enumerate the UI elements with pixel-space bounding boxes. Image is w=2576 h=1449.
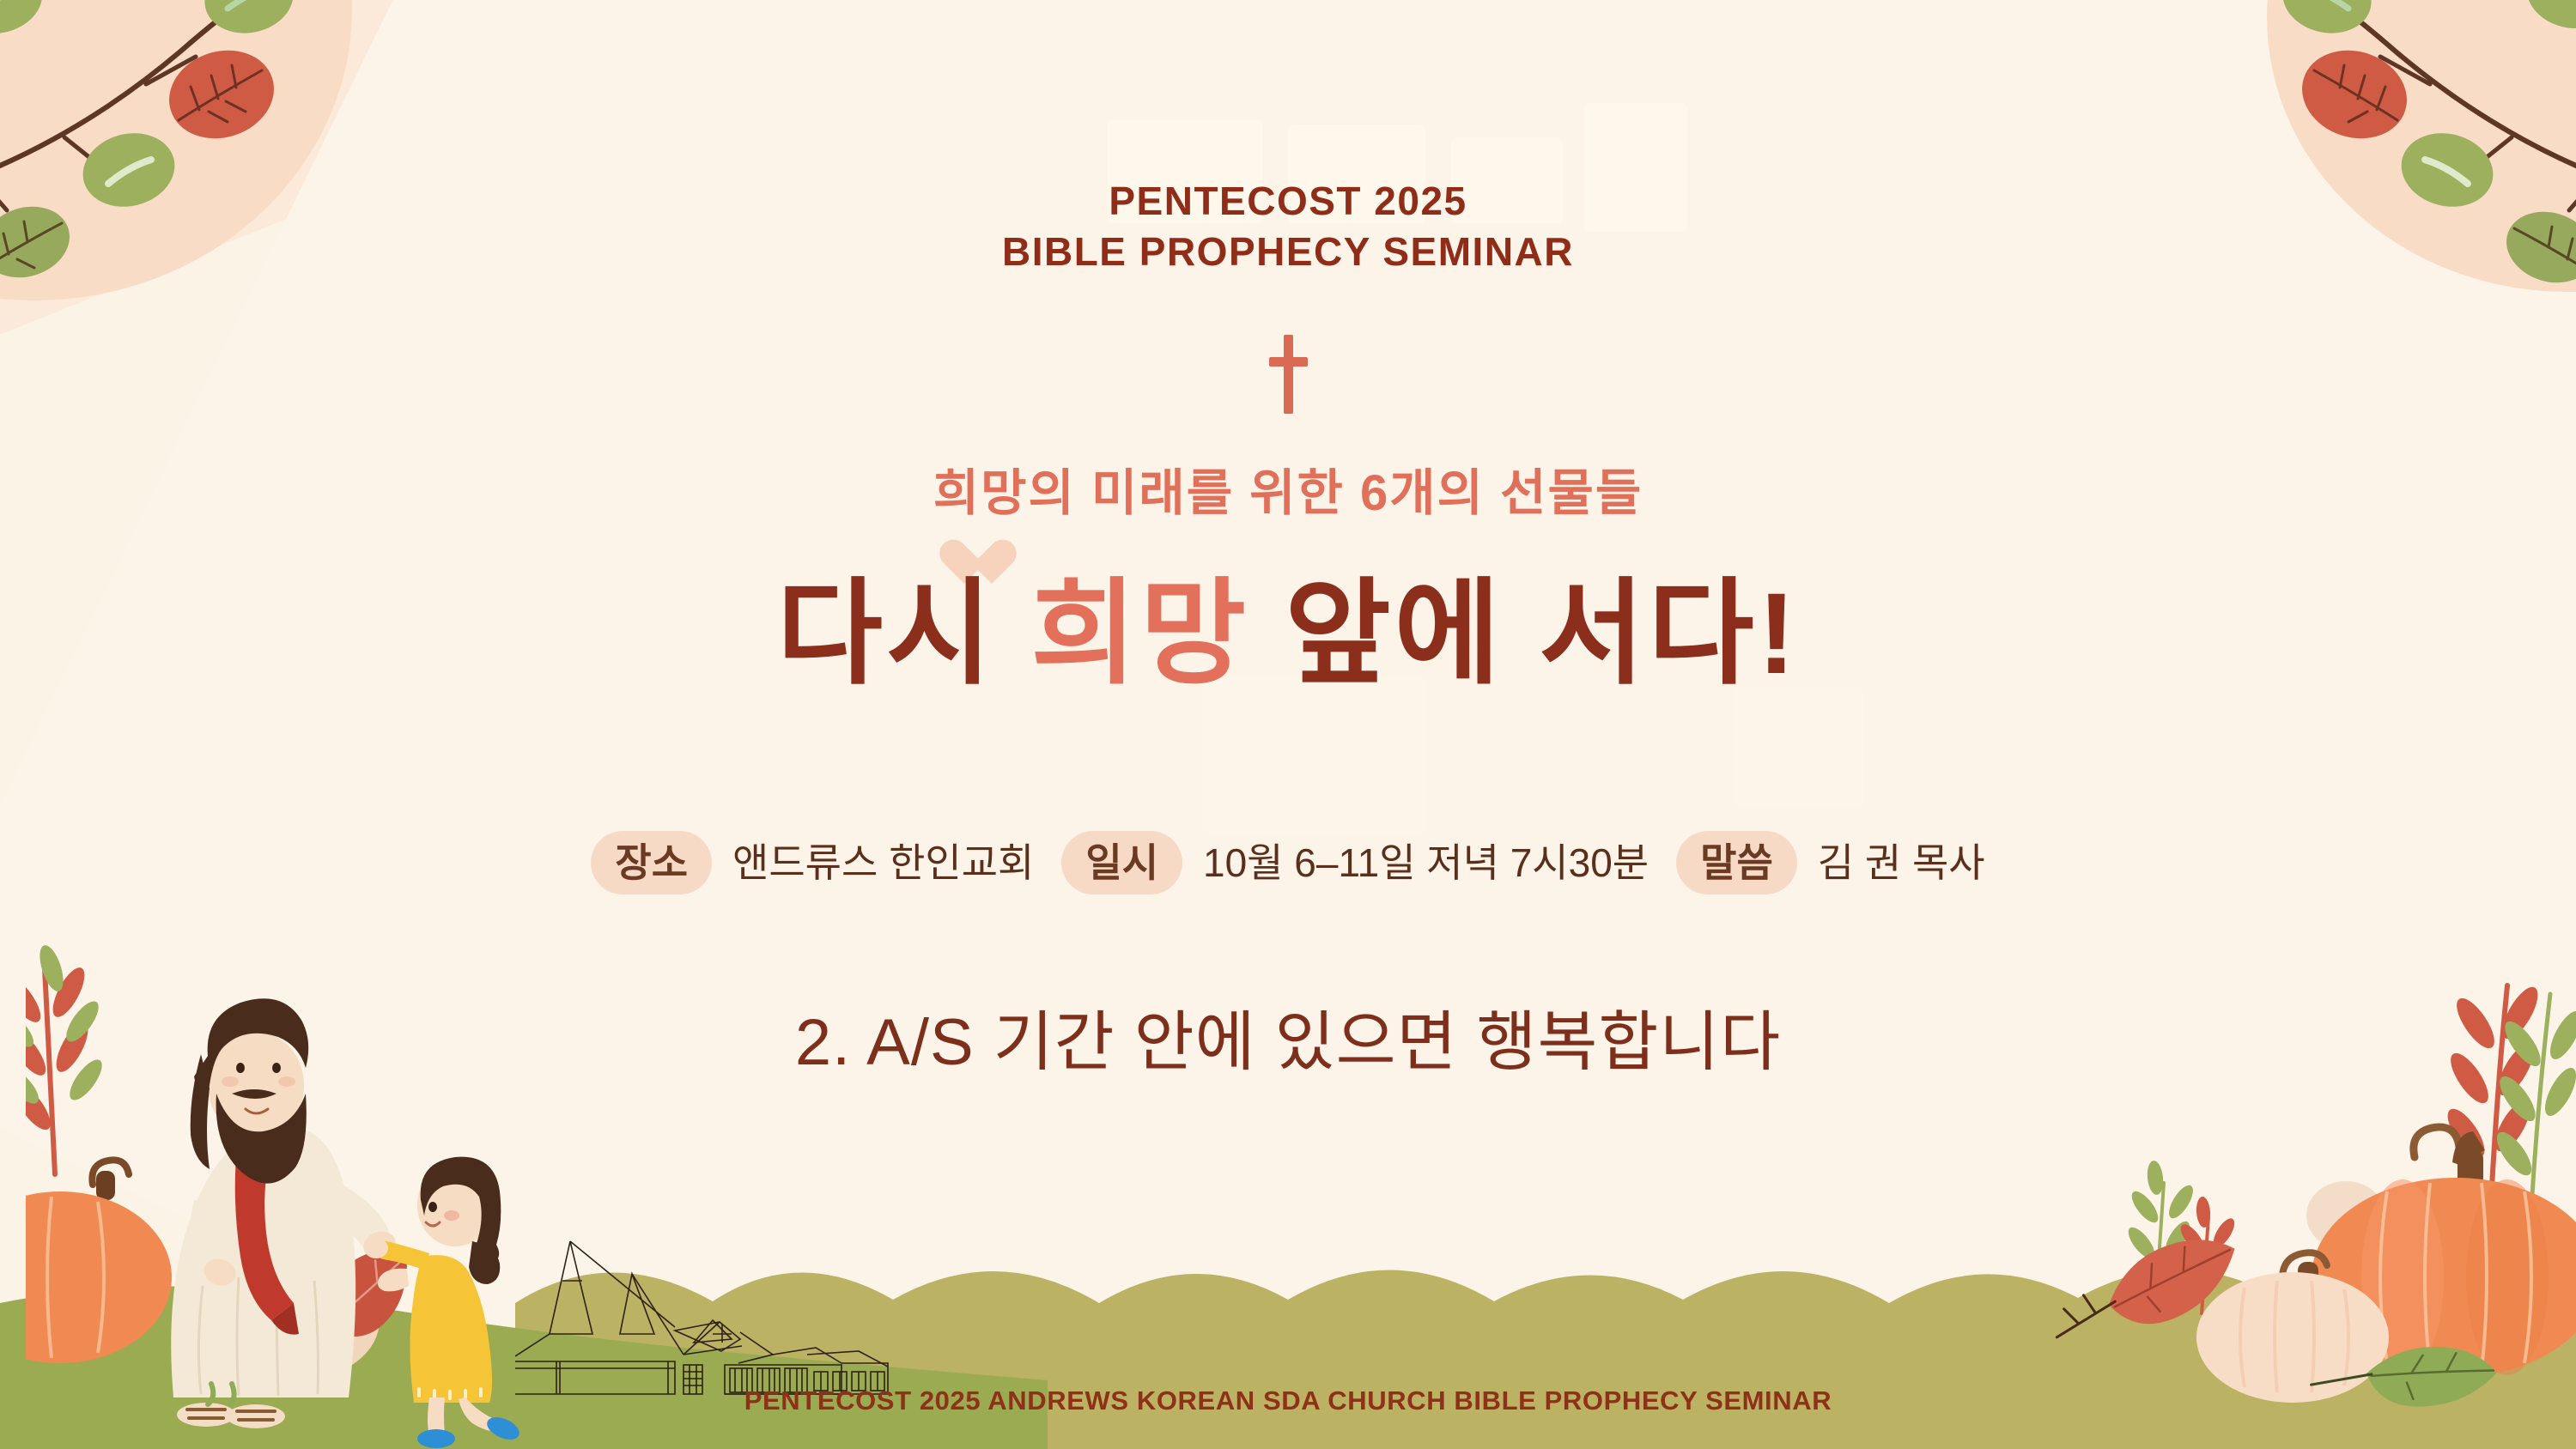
eyebrow-line-1: PENTECOST 2025 [1109,179,1467,223]
info-value-speaker: 김 권 목사 [1797,843,1985,882]
eyebrow-line-2: BIBLE PROPHECY SEMINAR [0,227,2576,277]
title-highlight: 희망 [1031,570,1250,698]
info-value-venue: 앤드류스 한인교회 [712,843,1061,882]
seminar-poster: PENTECOST 2025 BIBLE PROPHECY SEMINAR 희망… [0,0,2576,1449]
info-label-speaker: 말씀 [1676,831,1797,894]
info-value-datetime: 10월 6–11일 저녁 7시30분 [1182,843,1676,882]
cross-icon [1262,335,1314,414]
info-label-datetime: 일시 [1061,831,1182,894]
poster-eyebrow: PENTECOST 2025 BIBLE PROPHECY SEMINAR [0,176,2576,277]
title-part-1: 다시 [777,570,1031,698]
info-bar: 장소 앤드류스 한인교회 일시 10월 6–11일 저녁 7시30분 말씀 김 … [0,831,2576,894]
page-title: 다시 희망 앞에 서다! [0,577,2576,692]
footer-banner-text: PENTECOST 2025 ANDREWS KOREAN SDA CHURCH… [0,1385,2576,1416]
session-title: 2. A/S 기간 안에 있으면 행복합니다 [0,989,2576,1083]
poster-content: PENTECOST 2025 BIBLE PROPHECY SEMINAR 희망… [0,0,2576,1449]
poster-subtitle: 희망의 미래를 위한 6개의 선물들 [0,452,2576,524]
title-part-2: 앞에 서다! [1249,570,1799,698]
info-label-venue: 장소 [591,831,712,894]
